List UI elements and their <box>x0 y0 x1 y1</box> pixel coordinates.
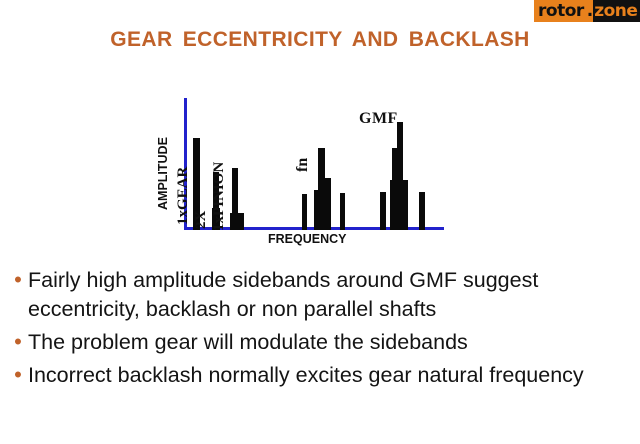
annotation-fn: fn <box>294 158 312 172</box>
bullet-text: The problem gear will modulate the sideb… <box>28 328 468 357</box>
spectrum-bar-1xPINION-base <box>230 213 244 230</box>
logo-text-rotor: rotor <box>534 0 587 22</box>
rotor-zone-logo: rotor . zone <box>534 0 640 22</box>
spectrum-bar-fn-sideband-left <box>302 194 307 230</box>
bullet-marker-icon: • <box>8 361 28 389</box>
spectrum-bar-gmf-sideband-right <box>419 192 425 230</box>
x-axis-label: FREQUENCY <box>268 232 346 246</box>
slide-title: GEAR ECCENTRICITY AND BACKLASH <box>0 28 640 52</box>
vibration-spectrum-chart: AMPLITUDE 1xGEAR 2X 1xPINION fn GMF FREQ… <box>160 88 460 258</box>
bullet-text: Fairly high amplitude sidebands around G… <box>28 266 610 324</box>
annotation-gmf: GMF <box>359 110 398 128</box>
bullet-list: •Fairly high amplitude sidebands around … <box>8 266 632 394</box>
chart-plot-area: AMPLITUDE 1xGEAR 2X 1xPINION fn GMF FREQ… <box>160 88 460 258</box>
bullet-text: Incorrect backlash normally excites gear… <box>28 361 584 390</box>
bullet-item: •The problem gear will modulate the side… <box>8 328 632 357</box>
spectrum-bar-gmf-sideband-left <box>380 192 386 230</box>
annotation-1x-pinion: 1xPINION <box>211 162 228 231</box>
bullet-item: •Incorrect backlash normally excites gea… <box>8 361 632 390</box>
spectrum-bar-fn-sideband-right <box>340 193 345 230</box>
y-axis-label: AMPLITUDE <box>156 137 170 210</box>
bullet-marker-icon: • <box>8 328 28 356</box>
annotation-1x-gear: 1xGEAR <box>175 167 192 225</box>
spectrum-bar-gmf-base <box>390 180 408 230</box>
bullet-item: •Fairly high amplitude sidebands around … <box>8 266 632 324</box>
logo-text-zone: zone <box>593 0 640 22</box>
bullet-marker-icon: • <box>8 266 28 294</box>
annotation-2x: 2X <box>193 211 210 229</box>
spectrum-bar-fn-base <box>314 190 331 230</box>
